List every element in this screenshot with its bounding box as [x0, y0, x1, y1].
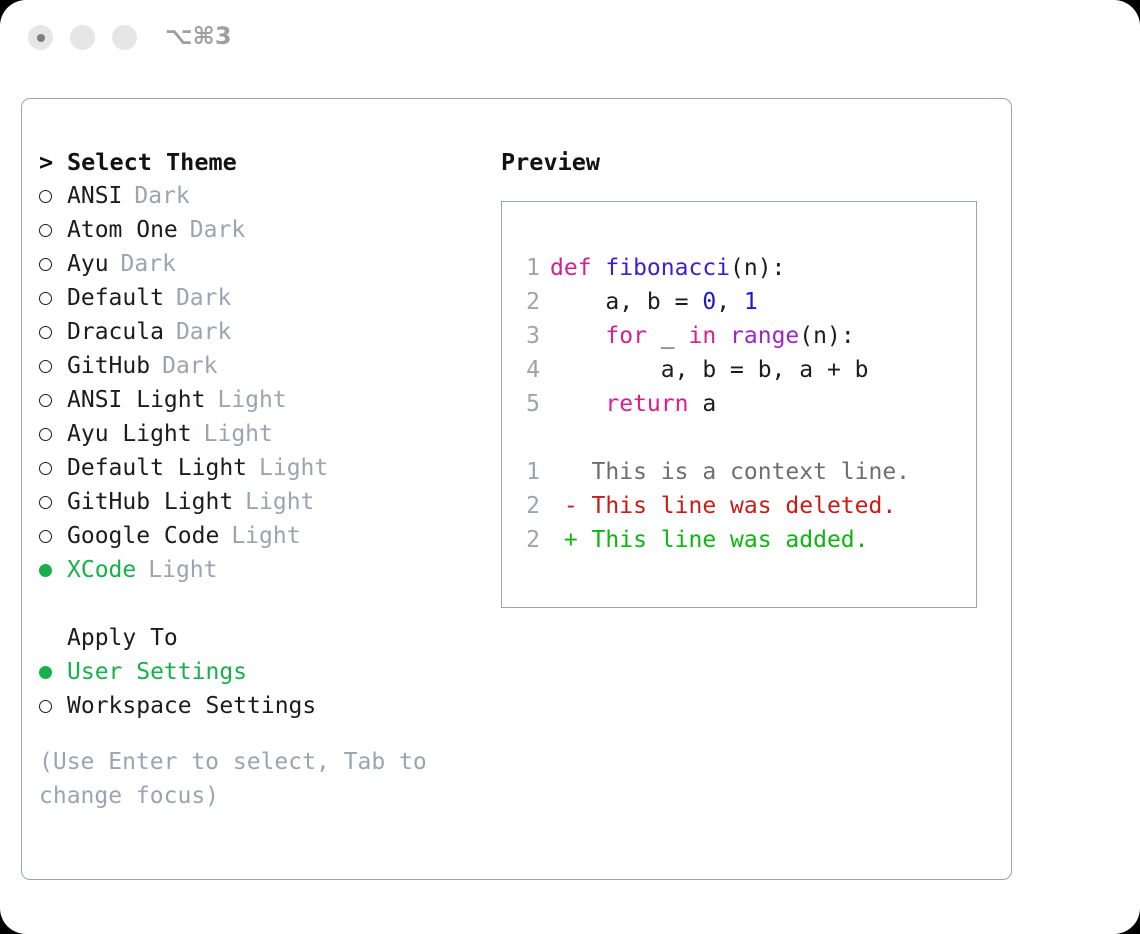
- theme-option-label: GitHub Light: [67, 485, 233, 519]
- radio-unselected-icon[interactable]: [39, 180, 67, 214]
- code-line-number: 4: [516, 353, 540, 387]
- minimize-button-icon[interactable]: [70, 25, 95, 50]
- theme-option-label: Ayu Light: [67, 417, 192, 451]
- theme-variant-badge: Dark: [190, 213, 245, 247]
- code-token: _: [647, 323, 689, 349]
- code-line-number: 5: [516, 387, 540, 421]
- theme-variant-badge: Light: [148, 553, 217, 587]
- radio-unselected-icon[interactable]: [39, 282, 67, 316]
- code-token: range: [730, 323, 799, 349]
- code-token: (n):: [730, 255, 785, 281]
- code-line-number: 3: [516, 319, 540, 353]
- select-theme-heading: >Select Theme: [39, 145, 489, 179]
- code-line: 2 a, b = 0, 1: [516, 285, 910, 319]
- radio-dot-icon: [39, 258, 52, 271]
- radio-dot-icon: [39, 428, 52, 441]
- preview-box: 1def fibonacci(n):2 a, b = 0, 13 for _ i…: [501, 201, 977, 608]
- radio-dot-icon: [39, 666, 52, 679]
- traffic-light-buttons: [28, 25, 137, 50]
- theme-variant-badge: Dark: [134, 179, 189, 213]
- apply-to-option-label: User Settings: [67, 655, 247, 689]
- apply-to-option-label: Workspace Settings: [67, 689, 316, 723]
- radio-unselected-icon[interactable]: [39, 248, 67, 282]
- radio-dot-icon: [39, 190, 52, 203]
- theme-option[interactable]: GitHub LightLight: [39, 485, 489, 519]
- diff-line: 1 This is a context line.: [516, 455, 910, 489]
- theme-option[interactable]: XCodeLight: [39, 553, 489, 587]
- theme-variant-badge: Light: [245, 485, 314, 519]
- radio-unselected-icon[interactable]: [39, 214, 67, 248]
- select-theme-heading-label: Select Theme: [67, 145, 237, 179]
- radio-selected-icon[interactable]: [39, 656, 67, 690]
- code-token: [550, 323, 605, 349]
- radio-dot-icon: [39, 292, 52, 305]
- radio-dot-icon: [39, 462, 52, 475]
- theme-variant-badge: Dark: [162, 349, 217, 383]
- radio-unselected-icon[interactable]: [39, 520, 67, 554]
- theme-list: ANSIDarkAtom OneDarkAyuDarkDefaultDarkDr…: [39, 179, 489, 587]
- theme-option[interactable]: ANSI LightLight: [39, 383, 489, 417]
- radio-unselected-icon[interactable]: [39, 418, 67, 452]
- diff-separator: [516, 421, 910, 455]
- preview-column: Preview 1def fibonacci(n):2 a, b = 0, 13…: [501, 145, 996, 608]
- code-line: 5 return a: [516, 387, 910, 421]
- radio-dot-icon: [39, 224, 52, 237]
- radio-unselected-icon[interactable]: [39, 690, 67, 724]
- radio-dot-icon: [39, 326, 52, 339]
- apply-to-option[interactable]: User Settings: [39, 655, 489, 689]
- theme-option-label: Default: [67, 281, 164, 315]
- radio-unselected-icon[interactable]: [39, 452, 67, 486]
- diff-line-number: 2: [516, 523, 540, 557]
- code-token: [716, 323, 730, 349]
- heading-caret-icon: >: [39, 145, 67, 179]
- theme-variant-badge: Light: [259, 451, 328, 485]
- apply-to-list: User SettingsWorkspace Settings: [39, 655, 489, 723]
- code-token: return: [605, 391, 688, 417]
- theme-option[interactable]: Atom OneDark: [39, 213, 489, 247]
- radio-dot-icon: [39, 564, 52, 577]
- radio-unselected-icon[interactable]: [39, 384, 67, 418]
- theme-option-label: Dracula: [67, 315, 164, 349]
- diff-line: 2 - This line was deleted.: [516, 489, 910, 523]
- radio-unselected-icon[interactable]: [39, 350, 67, 384]
- radio-dot-icon: [39, 496, 52, 509]
- code-token: a, b = b, a + b: [550, 357, 869, 383]
- code-preview: 1def fibonacci(n):2 a, b = 0, 13 for _ i…: [516, 251, 910, 557]
- radio-selected-icon[interactable]: [39, 554, 67, 588]
- maximize-button-icon[interactable]: [112, 25, 137, 50]
- theme-option-label: Atom One: [67, 213, 178, 247]
- code-line-number: 1: [516, 251, 540, 285]
- theme-option-label: GitHub: [67, 349, 150, 383]
- theme-option[interactable]: DefaultDark: [39, 281, 489, 315]
- radio-unselected-icon[interactable]: [39, 316, 67, 350]
- code-token: [550, 391, 605, 417]
- theme-variant-badge: Light: [217, 383, 286, 417]
- keyboard-hint-text: (Use Enter to select, Tab to change focu…: [39, 745, 459, 813]
- theme-option[interactable]: DraculaDark: [39, 315, 489, 349]
- code-line: 4 a, b = b, a + b: [516, 353, 910, 387]
- apply-to-heading: Apply To: [39, 621, 489, 655]
- diff-line-text: - This line was deleted.: [550, 493, 896, 519]
- preview-heading: Preview: [501, 145, 996, 179]
- code-token: a, b =: [550, 289, 702, 315]
- apply-to-option[interactable]: Workspace Settings: [39, 689, 489, 723]
- theme-variant-badge: Light: [204, 417, 273, 451]
- close-button-icon[interactable]: [28, 25, 53, 50]
- code-token: (n):: [799, 323, 854, 349]
- code-token: ,: [716, 289, 744, 315]
- theme-option[interactable]: AyuDark: [39, 247, 489, 281]
- code-token: in: [688, 323, 716, 349]
- code-token: for: [605, 323, 647, 349]
- theme-variant-badge: Dark: [121, 247, 176, 281]
- theme-option[interactable]: Google CodeLight: [39, 519, 489, 553]
- radio-dot-icon: [39, 700, 52, 713]
- theme-option[interactable]: Default LightLight: [39, 451, 489, 485]
- diff-line-text: + This line was added.: [550, 527, 869, 553]
- diff-line-text: This is a context line.: [550, 459, 910, 485]
- apply-to-heading-label: Apply To: [67, 621, 178, 655]
- theme-option[interactable]: GitHubDark: [39, 349, 489, 383]
- theme-option-label: Google Code: [67, 519, 219, 553]
- code-line: 1def fibonacci(n):: [516, 251, 910, 285]
- section-spacer: [39, 587, 489, 621]
- theme-variant-badge: Dark: [176, 315, 231, 349]
- theme-option-label: Default Light: [67, 451, 247, 485]
- theme-option-label: ANSI Light: [67, 383, 205, 417]
- theme-picker-column: >Select Theme ANSIDarkAtom OneDarkAyuDar…: [39, 145, 489, 813]
- radio-dot-icon: [39, 530, 52, 543]
- apply-to-indent: [39, 621, 67, 655]
- theme-option-label: Ayu: [67, 247, 109, 281]
- code-line: 3 for _ in range(n):: [516, 319, 910, 353]
- code-token: fibonacci: [605, 255, 730, 281]
- code-line-number: 2: [516, 285, 540, 319]
- code-token: 1: [744, 289, 758, 315]
- theme-option[interactable]: Ayu LightLight: [39, 417, 489, 451]
- code-token: def: [550, 255, 605, 281]
- window-titlebar: ⌥⌘3: [0, 0, 1140, 78]
- theme-option[interactable]: ANSIDark: [39, 179, 489, 213]
- theme-option-label: XCode: [67, 553, 136, 587]
- app-window: ⌥⌘3 >Select Theme ANSIDarkAtom OneDarkAy…: [0, 0, 1140, 934]
- main-panel: >Select Theme ANSIDarkAtom OneDarkAyuDar…: [21, 98, 1012, 880]
- diff-line: 2 + This line was added.: [516, 523, 910, 557]
- diff-line-number: 2: [516, 489, 540, 523]
- theme-option-label: ANSI: [67, 179, 122, 213]
- theme-variant-badge: Light: [231, 519, 300, 553]
- code-token: a: [688, 391, 716, 417]
- code-token: 0: [702, 289, 716, 315]
- radio-dot-icon: [39, 394, 52, 407]
- radio-dot-icon: [39, 360, 52, 373]
- window-title: ⌥⌘3: [165, 22, 232, 50]
- theme-variant-badge: Dark: [176, 281, 231, 315]
- radio-unselected-icon[interactable]: [39, 486, 67, 520]
- diff-line-number: 1: [516, 455, 540, 489]
